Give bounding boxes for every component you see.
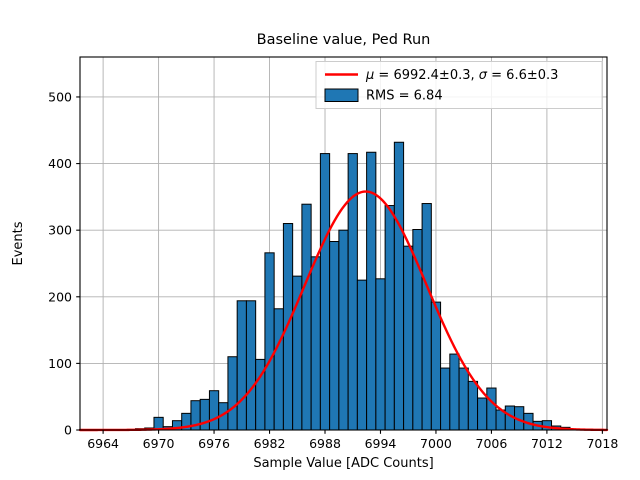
x-tick-label: 6982 (254, 436, 286, 451)
x-tick-label: 6964 (87, 436, 119, 451)
histogram-bar (320, 154, 329, 430)
x-tick-label: 7006 (476, 436, 508, 451)
histogram-bar (339, 230, 348, 430)
x-axis-label: Sample Value [ADC Counts] (253, 456, 433, 471)
histogram-bar (246, 301, 255, 430)
x-tick-label: 7000 (420, 436, 452, 451)
x-tick-label: 7012 (531, 436, 563, 451)
histogram-bar (487, 388, 496, 430)
histogram-bar (459, 368, 468, 430)
histogram-bar (385, 206, 394, 430)
histogram-bar (422, 204, 431, 430)
histogram-bar (404, 246, 413, 430)
legend-label-fit: μ = 6992.4±0.3, σ = 6.6±0.3 (365, 68, 558, 83)
x-tick-label: 6988 (309, 436, 341, 451)
histogram-bar (237, 301, 246, 430)
histogram-bar (209, 391, 218, 430)
histogram-bar (302, 204, 311, 430)
histogram-bar (293, 276, 302, 430)
histogram-bar (200, 399, 209, 430)
histogram-bar (265, 253, 274, 430)
figure-canvas: 6964697069766982698869947000700670127018… (0, 0, 640, 480)
legend[interactable]: μ = 6992.4±0.3, σ = 6.6±0.3 RMS = 6.84 (316, 62, 602, 109)
histogram-bar (330, 242, 339, 430)
histogram-bar (274, 309, 283, 430)
histogram-bar (394, 142, 403, 430)
histogram-bar (478, 398, 487, 430)
legend-label-rms: RMS = 6.84 (366, 89, 443, 104)
y-tick-label: 100 (48, 356, 72, 371)
histogram-bar (450, 354, 459, 430)
x-tick-label: 7018 (586, 436, 618, 451)
x-tick-label: 6976 (198, 436, 230, 451)
y-tick-label: 500 (48, 89, 72, 104)
histogram-bar (441, 368, 450, 430)
y-tick-label: 200 (48, 289, 72, 304)
histogram-bar (431, 302, 440, 430)
x-tick-label: 6970 (143, 436, 175, 451)
histogram-bar (413, 230, 422, 430)
histogram-bar (311, 257, 320, 430)
histogram-bar (357, 280, 366, 430)
histogram-bar (468, 381, 477, 430)
y-tick-label: 400 (48, 156, 72, 171)
histogram-bar (376, 279, 385, 430)
histogram-plot: 6964697069766982698869947000700670127018… (0, 0, 640, 480)
y-axis-label: Events (11, 221, 26, 265)
y-tick-label: 300 (48, 223, 72, 238)
histogram-bar (228, 357, 237, 430)
x-tick-label: 6994 (365, 436, 397, 451)
y-tick-label: 0 (64, 423, 72, 438)
legend-patch-marker (325, 89, 358, 102)
page-title: Baseline value, Ped Run (257, 32, 431, 48)
